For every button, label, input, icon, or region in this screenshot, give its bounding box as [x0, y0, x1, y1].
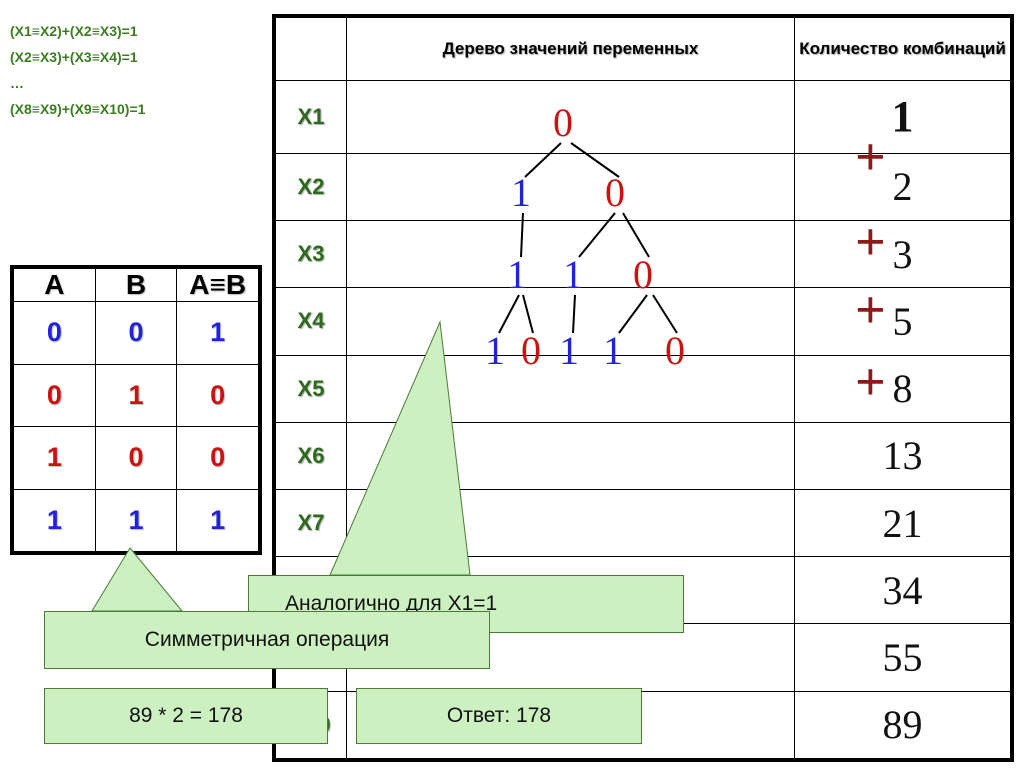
tree-cell-x3 [347, 221, 795, 288]
table-row: 0 0 1 [14, 302, 259, 365]
row-label-x3: X3 [276, 221, 347, 288]
formula-line: (X1≡X2)+(X2≡X3)=1 [10, 18, 260, 44]
cell-result: 0 [177, 427, 259, 490]
count-x1: 1 [795, 81, 1011, 154]
cell-a: 0 [14, 302, 96, 365]
cell-a: 1 [14, 427, 96, 490]
cell-a: 0 [14, 364, 96, 427]
count-x8: 34 [795, 557, 1011, 624]
header-empty [276, 18, 347, 81]
count-x7: 21 [795, 490, 1011, 557]
callout-answer: Ответ: 178 [356, 688, 642, 744]
tree-cell-x1 [347, 81, 795, 154]
tree-cell-x6 [347, 422, 795, 489]
main-table-header-row: Дерево значений переменных Количество ко… [276, 18, 1011, 81]
cell-b: 0 [95, 427, 177, 490]
row-label-x7: X7 [276, 490, 347, 557]
formula-line: (X8≡X9)+(X9≡X10)=1 [10, 96, 260, 122]
callout-symmetric: Симметричная операция [44, 611, 490, 669]
callout-multiply: 89 * 2 = 178 [44, 688, 328, 744]
truth-table-header-row: A B A≡B [14, 269, 259, 302]
cell-b: 1 [95, 364, 177, 427]
tree-cell-x5 [347, 355, 795, 422]
tree-cell-x7 [347, 490, 795, 557]
table-row: 1 0 0 [14, 427, 259, 490]
formula-line: … [10, 70, 260, 96]
row-label-x2: X2 [276, 153, 347, 220]
cell-result: 1 [177, 302, 259, 365]
header-count: Количество комбинаций [795, 18, 1011, 81]
table-row: X2 2 [276, 153, 1011, 220]
count-x2: 2 [795, 153, 1011, 220]
truth-table-header-a: A [14, 269, 96, 302]
count-x10: 89 [795, 691, 1011, 758]
table-row: X3 3 [276, 221, 1011, 288]
formula-list: (X1≡X2)+(X2≡X3)=1 (X2≡X3)+(X3≡X4)=1 … (X… [10, 18, 260, 122]
table-row: 1 1 1 [14, 489, 259, 552]
count-x9: 55 [795, 624, 1011, 691]
header-tree: Дерево значений переменных [347, 18, 795, 81]
table-row: X5 8 [276, 355, 1011, 422]
table-row: X7 21 [276, 490, 1011, 557]
cell-result: 0 [177, 364, 259, 427]
table-row: X4 5 [276, 288, 1011, 355]
count-x5: 8 [795, 355, 1011, 422]
cell-b: 0 [95, 302, 177, 365]
count-x4: 5 [795, 288, 1011, 355]
tree-cell-x4 [347, 288, 795, 355]
row-label-x6: X6 [276, 422, 347, 489]
row-label-x5: X5 [276, 355, 347, 422]
tree-cell-x2 [347, 153, 795, 220]
cell-a: 1 [14, 489, 96, 552]
truth-table: A B A≡B 0 0 1 0 1 0 1 0 0 1 1 [10, 265, 262, 555]
table-row: 0 1 0 [14, 364, 259, 427]
row-label-x1: X1 [276, 81, 347, 154]
table-row: X6 13 [276, 422, 1011, 489]
row-label-x4: X4 [276, 288, 347, 355]
formula-line: (X2≡X3)+(X3≡X4)=1 [10, 44, 260, 70]
cell-result: 1 [177, 489, 259, 552]
count-x3: 3 [795, 221, 1011, 288]
count-x6: 13 [795, 422, 1011, 489]
truth-table-header-result: A≡B [177, 269, 259, 302]
truth-table-header-b: B [95, 269, 177, 302]
table-row: X1 1 [276, 81, 1011, 154]
cell-b: 1 [95, 489, 177, 552]
